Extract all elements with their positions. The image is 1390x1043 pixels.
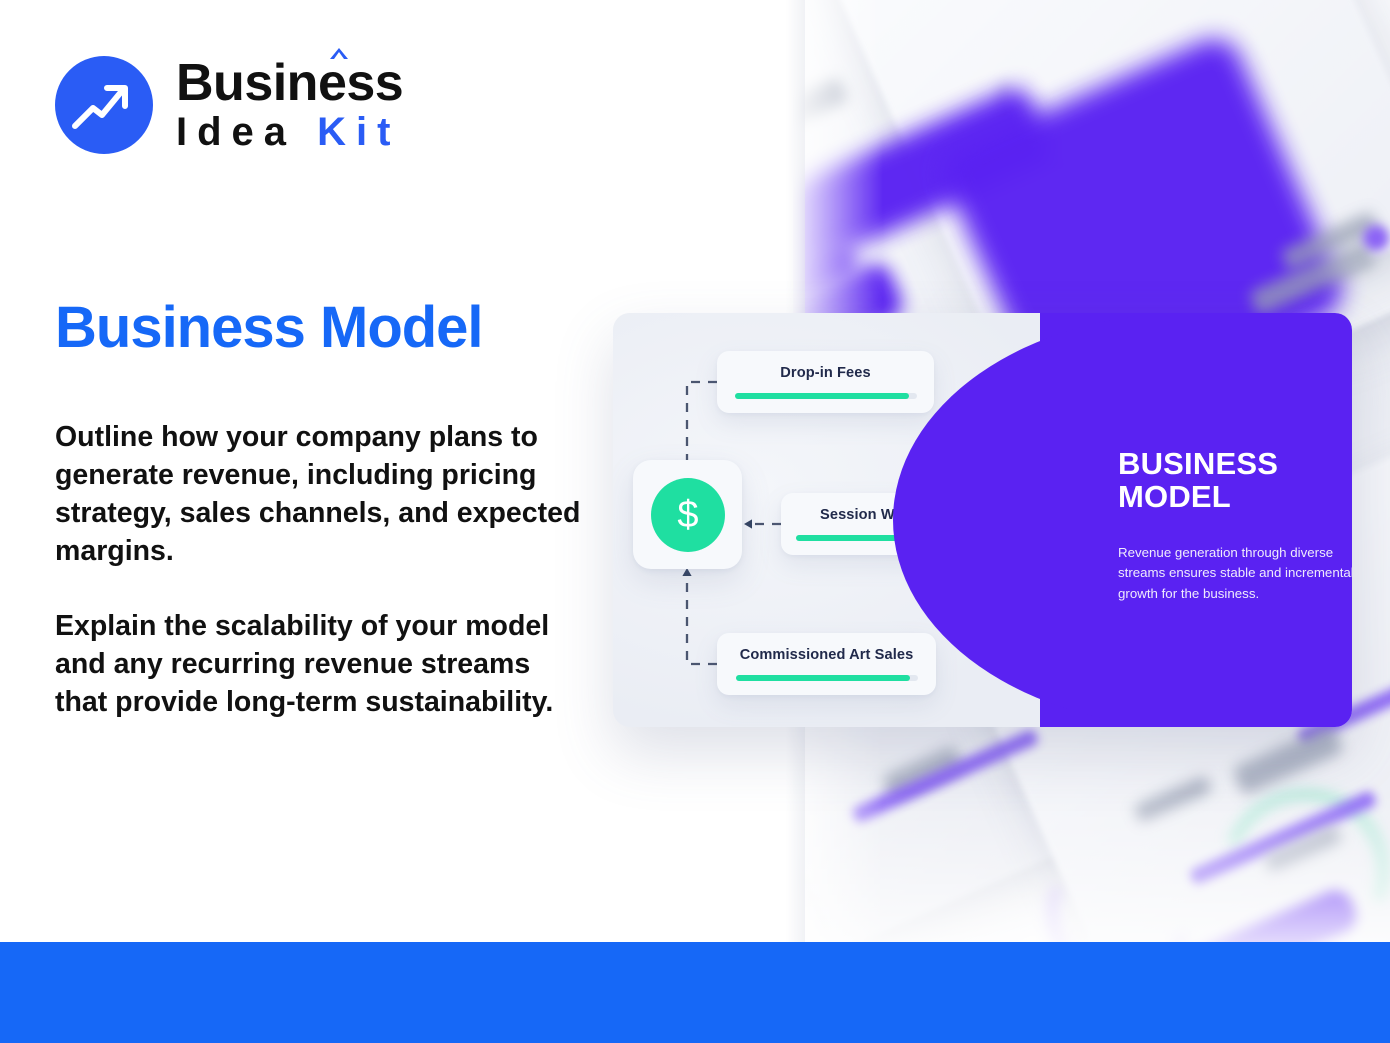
background-dot [1363,225,1389,251]
card-panel-title-line-2: MODEL [1118,479,1231,514]
card-purple-panel-content: BUSINESS MODEL Revenue generation throug… [1040,313,1352,727]
brand-logo: Business Idea Kit [55,56,403,154]
card-panel-title-line-1: BUSINESS [1118,446,1278,481]
node-progress-track [735,393,917,399]
brand-name-text: Business [176,54,403,112]
node-progress-fill [735,393,910,399]
brand-subname-text: Idea [176,110,296,154]
business-model-preview-card: $ Drop-in Fees Session Workshops Commiss… [613,313,1352,727]
slide-canvas: Business Idea Kit Business Model Outline… [0,0,1390,1043]
growth-chart-arrow-icon [55,56,153,154]
svg-text:$: $ [677,494,698,536]
body-paragraph-1: Outline how your company plans to genera… [55,418,585,570]
brand-name-line-1: Business [176,57,403,109]
node-progress-track [736,675,918,681]
card-panel-description: Revenue generation through diverse strea… [1118,543,1352,604]
node-label: Drop-in Fees [780,365,870,381]
node-label: Commissioned Art Sales [740,647,914,663]
brand-wordmark: Business Idea Kit [176,57,403,153]
brand-subname-accent: Kit [317,110,400,154]
dollar-sign-icon: $ [651,478,725,552]
body-paragraph-2: Explain the scalability of your model an… [55,607,585,721]
revenue-stream-node[interactable]: Drop-in Fees [717,351,934,413]
footer-bar [0,942,1390,1043]
brand-name-line-2: Idea Kit [176,111,403,153]
node-progress-fill [736,675,911,681]
page-title: Business Model [55,298,483,359]
revenue-hub-node[interactable]: $ [633,460,742,569]
caret-accent-icon [330,48,348,59]
revenue-stream-node[interactable]: Commissioned Art Sales [717,633,936,695]
card-panel-title: BUSINESS MODEL [1118,447,1348,513]
card-purple-panel: BUSINESS MODEL Revenue generation throug… [1040,313,1352,727]
background-bottom-fade [793,792,1390,942]
